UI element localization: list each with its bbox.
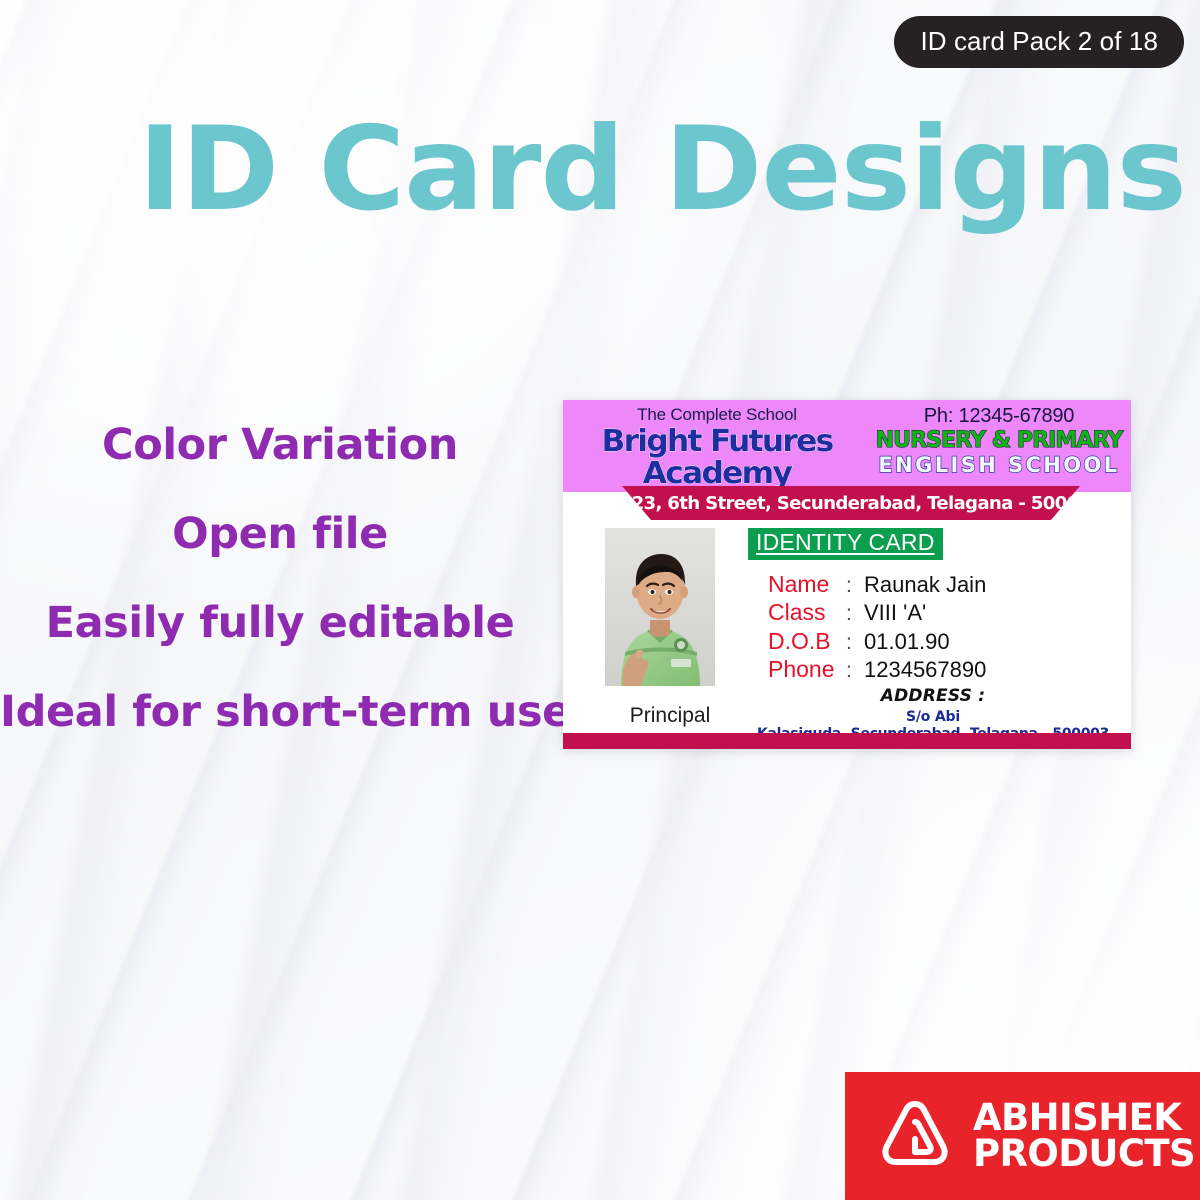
student-address-title: ADDRESS :	[753, 687, 1113, 707]
school-identity-block: The Complete School Bright Futures Acade…	[567, 406, 867, 490]
school-address-text: # 123, 6th Street, Secunderabad, Telagan…	[600, 493, 1103, 514]
principal-signature-label: Principal	[605, 705, 735, 726]
field-row-phone: Phone : 1234567890	[768, 657, 986, 682]
id-card-header: The Complete School Bright Futures Acade…	[563, 400, 1131, 492]
poster-canvas: ID card Pack 2 of 18 ID Card Designs Col…	[0, 0, 1200, 1200]
field-colon: :	[846, 659, 864, 682]
student-address-line-1: S/o Abi	[753, 709, 1113, 726]
id-card-body: Principal IDENTITY CARD Name : Raunak Ja…	[563, 492, 1131, 733]
brand-wordmark: ABHISHEK PRODUCTS	[973, 1100, 1195, 1173]
feature-item: Color Variation	[0, 424, 560, 467]
id-card-preview: The Complete School Bright Futures Acade…	[563, 400, 1131, 749]
feature-list: Color Variation Open file Easily fully e…	[0, 424, 560, 734]
identity-card-badge: IDENTITY CARD	[748, 528, 943, 560]
page-title: ID Card Designs	[138, 112, 1186, 228]
feature-item: Ideal for short-term use	[0, 691, 560, 734]
brand-line-2: PRODUCTS	[973, 1136, 1195, 1172]
field-label: Class	[768, 600, 846, 625]
school-address-banner: # 123, 6th Street, Secunderabad, Telagan…	[601, 486, 1101, 520]
feature-item: Open file	[0, 513, 560, 556]
field-colon: :	[846, 574, 864, 597]
field-value: Raunak Jain	[864, 573, 986, 597]
field-row-name: Name : Raunak Jain	[768, 572, 986, 597]
brand-logo: ABHISHEK PRODUCTS	[845, 1072, 1200, 1200]
field-row-dob: D.O.B : 01.01.90	[768, 629, 986, 654]
field-label: D.O.B	[768, 629, 846, 654]
school-tagline: The Complete School	[567, 406, 867, 425]
student-details-list: Name : Raunak Jain Class : VIII 'A' D.O.…	[768, 572, 986, 685]
field-colon: :	[846, 602, 864, 625]
feature-item: Easily fully editable	[0, 602, 560, 645]
school-phone: Ph: 12345-67890	[873, 405, 1125, 428]
school-name: Bright Futures Academy	[563, 426, 873, 491]
abhishek-triangle-icon	[873, 1092, 957, 1181]
field-value: 1234567890	[864, 658, 986, 682]
field-label: Phone	[768, 657, 846, 682]
brand-line-1: ABHISHEK	[973, 1100, 1195, 1136]
id-card-footer-bar	[563, 733, 1131, 749]
field-value: 01.01.90	[864, 630, 950, 654]
field-row-class: Class : VIII 'A'	[768, 600, 986, 625]
school-segment-line: NURSERY & PRIMARY	[873, 429, 1125, 453]
field-value: VIII 'A'	[864, 601, 926, 625]
field-label: Name	[768, 572, 846, 597]
field-colon: :	[846, 631, 864, 654]
school-type-line: ENGLISH SCHOOL	[873, 454, 1125, 477]
school-contact-block: Ph: 12345-67890 NURSERY & PRIMARY ENGLIS…	[873, 405, 1125, 476]
pack-count-badge: ID card Pack 2 of 18	[894, 16, 1184, 68]
identity-card-badge-label: IDENTITY CARD	[756, 529, 935, 555]
student-photo	[605, 528, 715, 686]
